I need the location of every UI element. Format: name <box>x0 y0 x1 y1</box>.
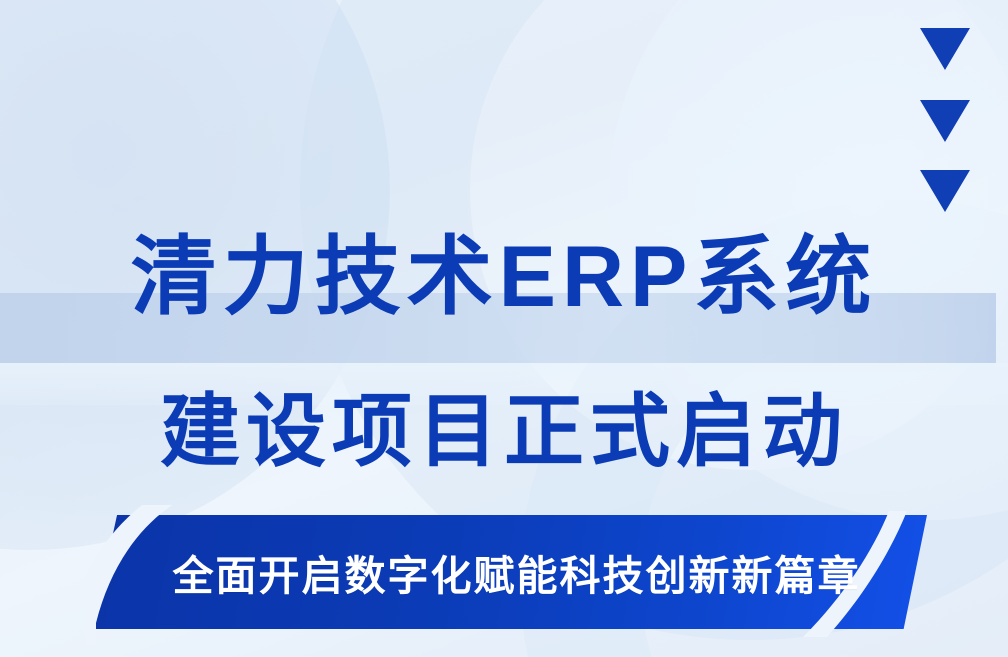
headline-line-1: 清力技术ERP系统 <box>0 225 1008 329</box>
subtitle-banner: 全面开启数字化赋能科技创新新篇章 <box>92 515 927 629</box>
headline-line-2: 建设项目正式启动 <box>0 383 1008 481</box>
poster-canvas: 清力技术ERP系统 建设项目正式启动 全面开启数字化赋能科技创新新篇章 <box>0 0 1008 657</box>
subtitle-text: 全面开启数字化赋能科技创新新篇章 <box>92 515 927 629</box>
